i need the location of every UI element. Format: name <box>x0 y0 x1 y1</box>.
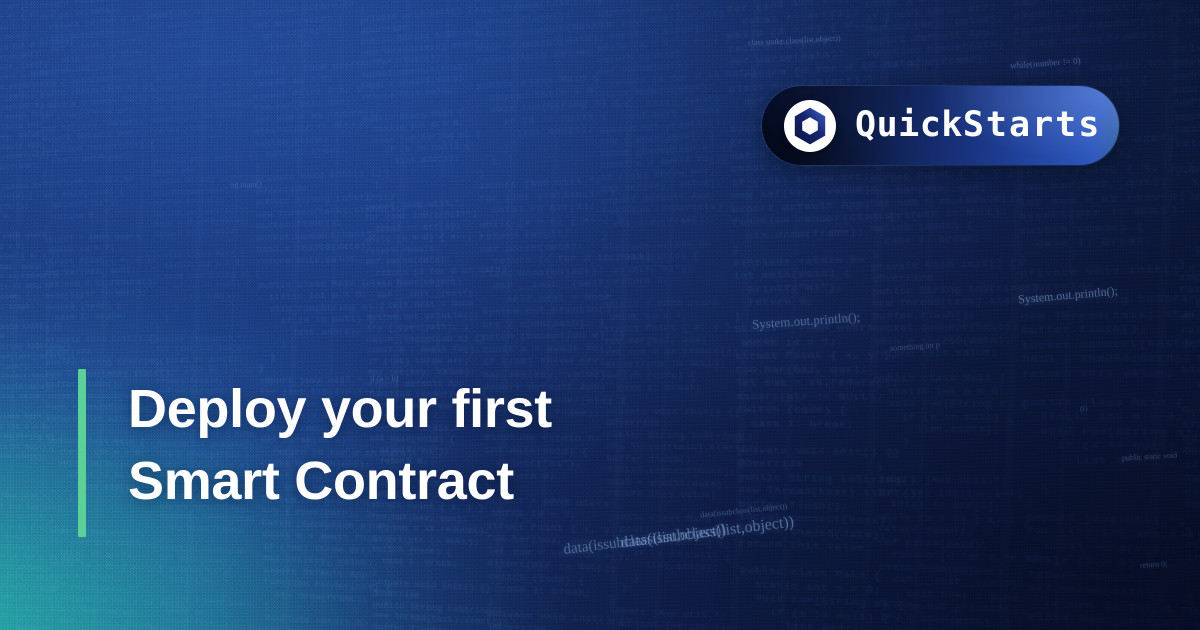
quickstarts-label-quick: Quick <box>855 105 963 145</box>
quickstarts-label-starts: Starts <box>963 105 1101 145</box>
quickstarts-banner: public class Main { static int n = 0; vo… <box>0 0 1200 630</box>
chainlink-hexagon-icon <box>792 106 828 146</box>
chainlink-logo-badge <box>784 100 836 152</box>
page-title: Deploy your first Smart Contract <box>128 369 552 537</box>
headline-block: Deploy your first Smart Contract <box>78 369 552 537</box>
quickstarts-label: QuickStarts <box>855 108 1101 143</box>
quickstarts-badge[interactable]: QuickStarts <box>762 86 1119 165</box>
accent-bar <box>78 369 86 537</box>
